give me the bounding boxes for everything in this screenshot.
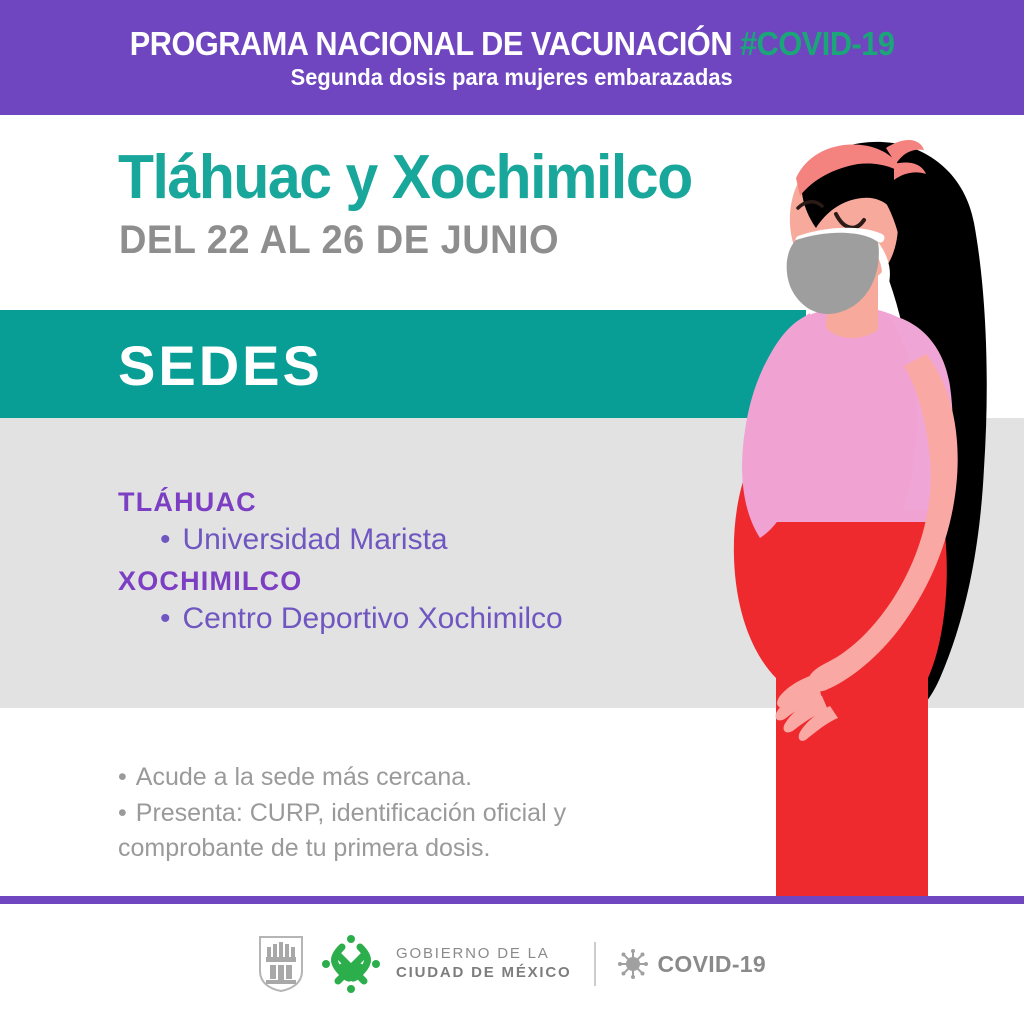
cdmx-shield-icon	[258, 935, 304, 993]
list-item: •Centro Deportivo Xochimilco	[160, 599, 563, 640]
sedes-band: SEDES	[0, 310, 806, 418]
list-item: •Acude a la sede más cercana.	[118, 760, 566, 796]
coronavirus-icon	[618, 949, 648, 979]
divider	[0, 896, 1024, 904]
footer: GOBIERNO DE LA CIUDAD DE MÉXICO	[0, 904, 1024, 1024]
venues-list: TLÁHUAC •Universidad Marista XOCHIMILCO …	[118, 484, 563, 642]
header-title-main: PROGRAMA NACIONAL DE VACUNACIÓN	[130, 25, 740, 62]
date-range: DEL 22 AL 26 DE JUNIO	[119, 220, 559, 260]
vertical-divider-icon	[594, 942, 596, 986]
bullet-icon: •	[118, 760, 127, 796]
venue-name: Centro Deportivo Xochimilco	[183, 602, 563, 635]
cdmx-knot-icon	[320, 933, 382, 995]
instruction-text: Acude a la sede más cercana.	[136, 763, 472, 791]
header-band: PROGRAMA NACIONAL DE VACUNACIÓN #COVID-1…	[0, 0, 1024, 115]
venue-borough-tlahuac: TLÁHUAC	[118, 484, 563, 520]
covid-label: COVID-19	[658, 951, 766, 978]
vaccination-poster: PROGRAMA NACIONAL DE VACUNACIÓN #COVID-1…	[0, 0, 1024, 1024]
venues-zone: TLÁHUAC •Universidad Marista XOCHIMILCO …	[0, 418, 1024, 708]
list-item: •Universidad Marista	[160, 520, 563, 561]
venue-borough-xochimilco: XOCHIMILCO	[118, 563, 563, 599]
title-zone: Tláhuac y Xochimilco DEL 22 AL 26 DE JUN…	[0, 115, 1024, 310]
bullet-icon: •	[160, 520, 171, 561]
sedes-heading: SEDES	[118, 338, 323, 394]
notes-zone: •Acude a la sede más cercana. •Presenta:…	[0, 708, 1024, 896]
page-title: Tláhuac y Xochimilco	[118, 147, 692, 209]
gob-line-2: CIUDAD DE MÉXICO	[396, 964, 571, 983]
government-label: GOBIERNO DE LA CIUDAD DE MÉXICO	[396, 945, 571, 983]
header-subtitle: Segunda dosis para mujeres embarazadas	[291, 66, 733, 89]
bullet-icon: •	[160, 599, 171, 640]
instructions-list: •Acude a la sede más cercana. •Presenta:…	[118, 760, 566, 867]
venue-name: Universidad Marista	[183, 523, 448, 556]
gob-line-1: GOBIERNO DE LA	[396, 945, 571, 964]
header-title-hashtag: #COVID-19	[740, 25, 894, 62]
bullet-icon: •	[118, 796, 127, 832]
instruction-text-continuation: comprobante de tu primera dosis.	[118, 831, 566, 867]
instruction-text: Presenta: CURP, identificación oficial y	[136, 799, 566, 827]
header-title: PROGRAMA NACIONAL DE VACUNACIÓN #COVID-1…	[130, 27, 895, 60]
list-item: •Presenta: CURP, identificación oficial …	[118, 796, 566, 832]
